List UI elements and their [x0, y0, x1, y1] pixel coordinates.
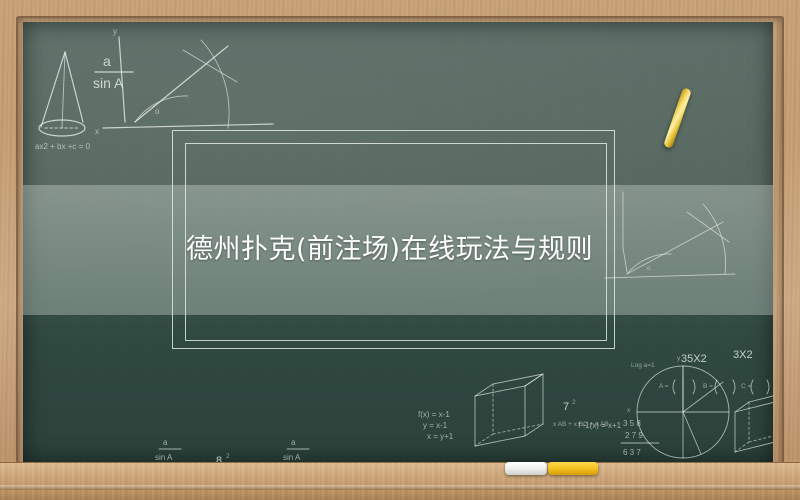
chalk-text-ratio-a: a [163, 438, 168, 447]
chalk-text-matrix-c: C = [741, 383, 752, 390]
chalk-text-seven: 7 [563, 401, 569, 413]
chalk-text-ratio-sin: sin A [155, 453, 173, 462]
chalk-text-angle-o: o [155, 107, 160, 116]
chalk-text-inequality: x AB + x BC + x AB [553, 421, 609, 428]
chalk-text-matrix-b: B = [703, 383, 713, 390]
chalk-text-fx3: x = y+1 [427, 432, 454, 441]
chalk-text-matrix-a: A = [659, 383, 669, 390]
chalk-text-matrix-35x2: 35X2 [681, 353, 707, 365]
chalk-text-matrix-3x2: 3X2 [733, 349, 753, 361]
arithmetic-sum: 3 5 8 2 7 9 6 3 7 [621, 419, 659, 457]
matrix-expressions: A = B = C = [659, 380, 769, 394]
chalk-text-ratio-a2: a [291, 438, 296, 447]
chalk-text-seven-exp: 2 [572, 399, 576, 406]
function-equations-center: f(x) = x-1 y = x-1 x = y+1 [418, 410, 454, 441]
chalk-text-log: Log a=1 [631, 362, 655, 369]
power-expressions: 7 2 8 2 [216, 399, 576, 462]
chalk-text-sum-row2: 2 7 9 [625, 431, 643, 440]
chalk-text-eight: 8 [216, 455, 222, 462]
ratio-formula-center: a sin A [283, 438, 309, 462]
cube-drawing-center [475, 374, 543, 446]
chalk-text-angle-o-right: o [647, 265, 651, 272]
chalk-stick-yellow-ledge [548, 462, 598, 475]
ratio-formula-left: a sin A [155, 438, 181, 462]
axes-angle-drawing-left: y x o [95, 27, 273, 136]
chalk-text-fx2: y = x-1 [423, 421, 448, 430]
cone-drawing [39, 52, 85, 136]
chalk-text-sum-row1: 3 5 8 [623, 419, 641, 428]
chalk-text-circle-axis-y: y [677, 355, 681, 362]
chalk-text-a: a [103, 53, 111, 69]
chalk-text-sum-row3: 6 3 7 [623, 448, 641, 457]
chalk-text-sina: sin A [93, 75, 124, 91]
chalk-text-circle-axis-x: x [627, 407, 631, 414]
ledge-lip [0, 485, 800, 490]
chalkboard-ledge [0, 462, 800, 500]
screenshot-stage: a sin A ax2 + bx +c = 0 y x o [0, 0, 800, 500]
chalk-text-axis-y: y [113, 27, 117, 36]
axes-angle-drawing-right: o [605, 192, 735, 278]
chalk-text-quadratic: ax2 + bx +c = 0 [35, 142, 90, 151]
chalk-text-ratio-sin2: sin A [283, 453, 301, 462]
chalk-text-eight-exp: 2 [226, 453, 230, 460]
decorative-rect-inner [185, 143, 607, 341]
circle-axes-drawing: y x [627, 355, 729, 458]
chalk-text-fx1: f(x) = x-1 [418, 410, 450, 419]
chalk-stick-white [505, 462, 547, 475]
chalk-text-inverse-fn: f -1(x) = x+1 [578, 421, 622, 430]
chalk-text-axis-x: x [95, 127, 99, 136]
law-of-sines-formula: a sin A [93, 53, 133, 91]
cube-drawing-right [735, 390, 773, 452]
